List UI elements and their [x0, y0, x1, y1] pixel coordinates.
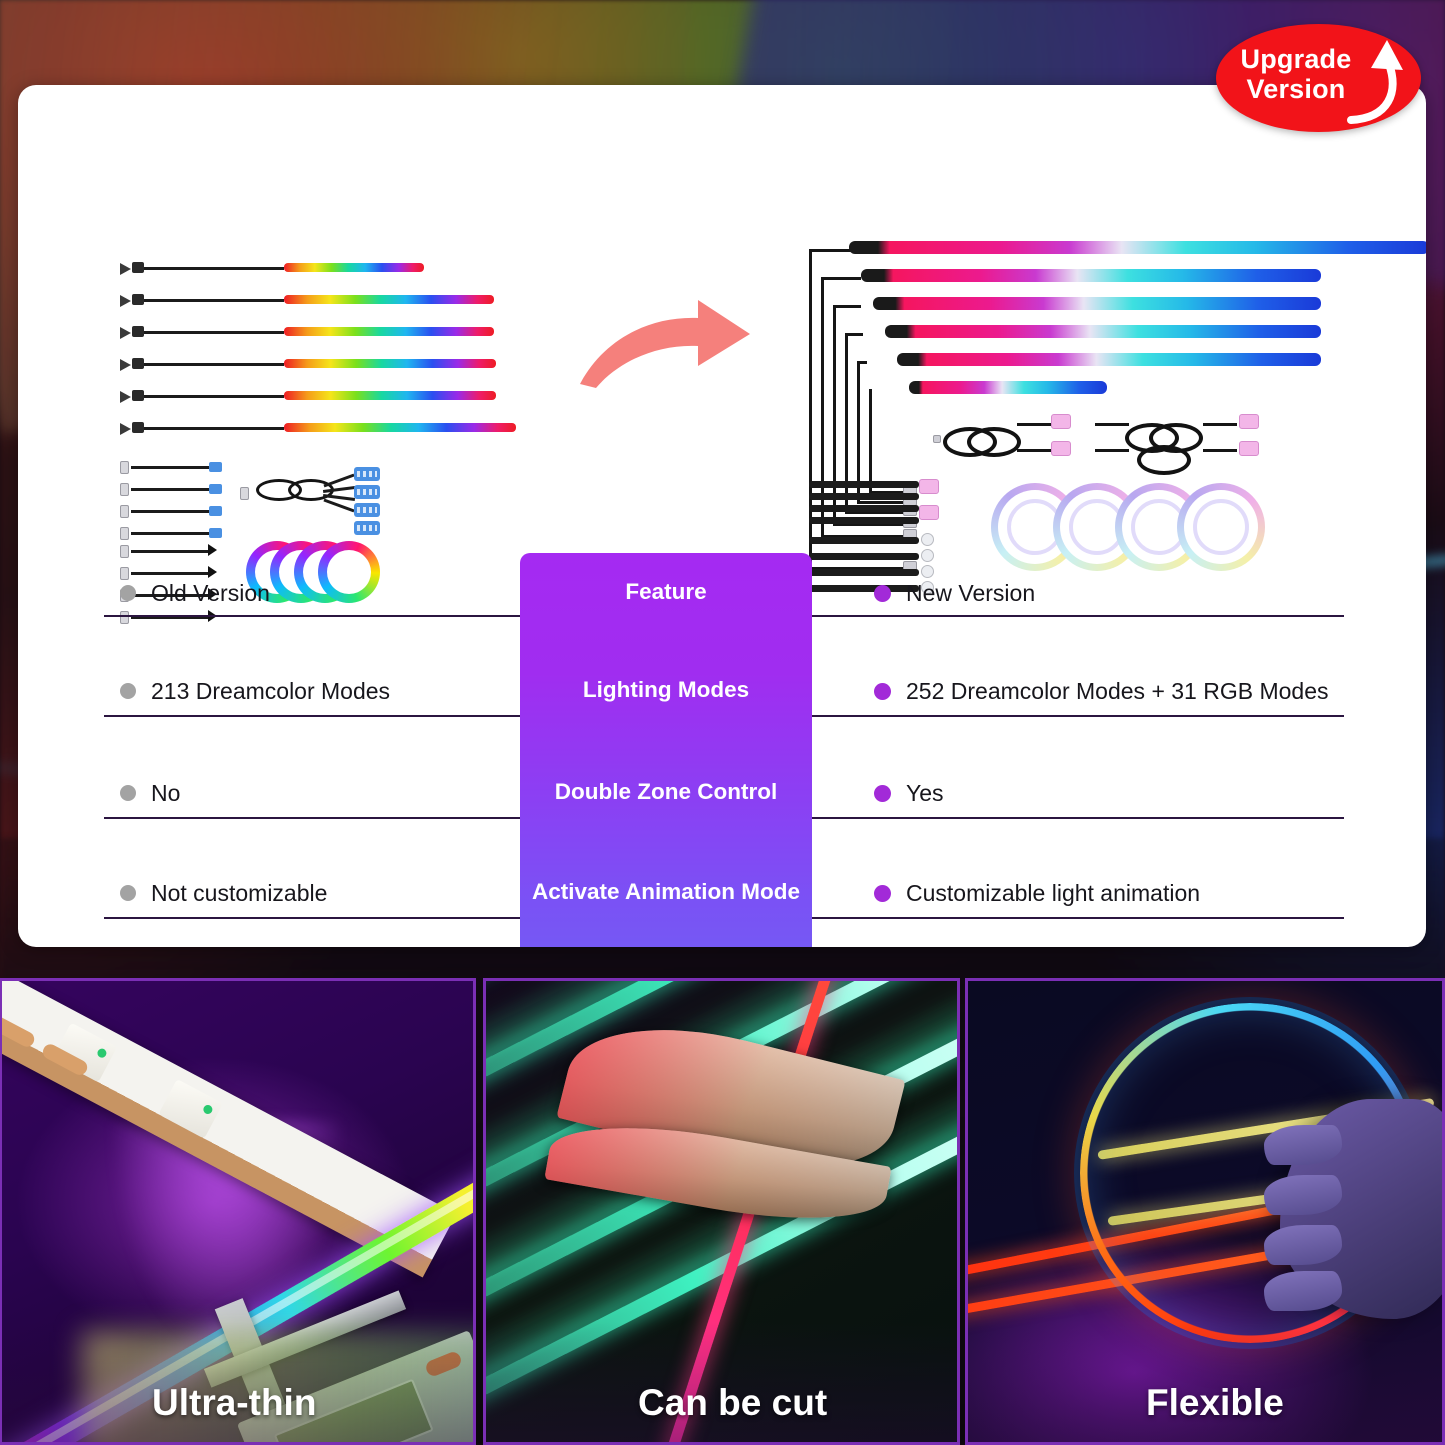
row-cell-old: No	[120, 771, 512, 815]
row-feature-label: Lighting Modes	[520, 677, 812, 703]
panel-label: Ultra-thin	[2, 1382, 473, 1424]
header-cell-new: New Version	[874, 571, 1334, 615]
row-cell-old: 213 Dreamcolor Modes	[120, 669, 512, 713]
hand	[1280, 1099, 1445, 1319]
bullet-purple-icon	[874, 885, 891, 902]
row-cell-old: Not customizable	[120, 871, 512, 915]
header-cell-old: Old Version	[120, 571, 512, 615]
header-label-feature: Feature	[520, 579, 812, 605]
badge-line-2: Version	[1247, 74, 1346, 104]
row-feature-label: Activate Animation Mode	[520, 879, 812, 905]
row-cell-new: Yes	[874, 771, 1334, 815]
bullet-gray-icon	[120, 585, 136, 601]
curved-up-arrow-icon	[1333, 34, 1409, 124]
bullet-gray-icon	[120, 683, 136, 699]
panel-flexible: Flexible	[965, 978, 1445, 1445]
comparison-table: Old Version Feature New Version 213 Drea…	[104, 553, 1344, 947]
finger	[1264, 1175, 1342, 1215]
header-label-old: Old Version	[151, 580, 270, 607]
panel-ultra-thin: Ultra-thin	[0, 978, 476, 1445]
row-value-old: 213 Dreamcolor Modes	[151, 678, 390, 705]
bullet-purple-icon	[874, 585, 891, 602]
bullet-gray-icon	[120, 885, 136, 901]
finger	[1264, 1225, 1342, 1265]
upgrade-version-badge: Upgrade Version	[1216, 24, 1421, 132]
panel-label: Flexible	[968, 1382, 1442, 1424]
row-value-new: 252 Dreamcolor Modes + 31 RGB Modes	[906, 678, 1329, 705]
row-value-old: No	[151, 780, 180, 807]
bullet-purple-icon	[874, 785, 891, 802]
curved-right-arrow-icon	[574, 290, 759, 390]
header-label-new: New Version	[906, 580, 1035, 607]
led-chip-icon	[158, 1079, 223, 1139]
finger	[1264, 1271, 1342, 1311]
old-version-product-image	[118, 245, 518, 535]
bullet-gray-icon	[120, 785, 136, 801]
new-version-product-image	[803, 233, 1426, 563]
solder-pad	[0, 1014, 37, 1050]
comparison-card: Old Version Feature New Version 213 Drea…	[18, 85, 1426, 947]
finger	[1264, 1125, 1342, 1165]
row-value-new: Customizable light animation	[906, 880, 1200, 907]
row-value-old: Not customizable	[151, 880, 327, 907]
row-cell-new: Customizable light animation	[874, 871, 1334, 915]
feature-photo-panels: Ultra-thin Can be cut Flexible	[0, 978, 1445, 1445]
panel-can-be-cut: Can be cut	[483, 978, 960, 1445]
bullet-purple-icon	[874, 683, 891, 700]
row-feature-label: Double Zone Control	[520, 779, 812, 805]
row-value-new: Yes	[906, 780, 944, 807]
row-cell-new: 252 Dreamcolor Modes + 31 RGB Modes	[874, 669, 1334, 713]
panel-label: Can be cut	[486, 1382, 957, 1424]
